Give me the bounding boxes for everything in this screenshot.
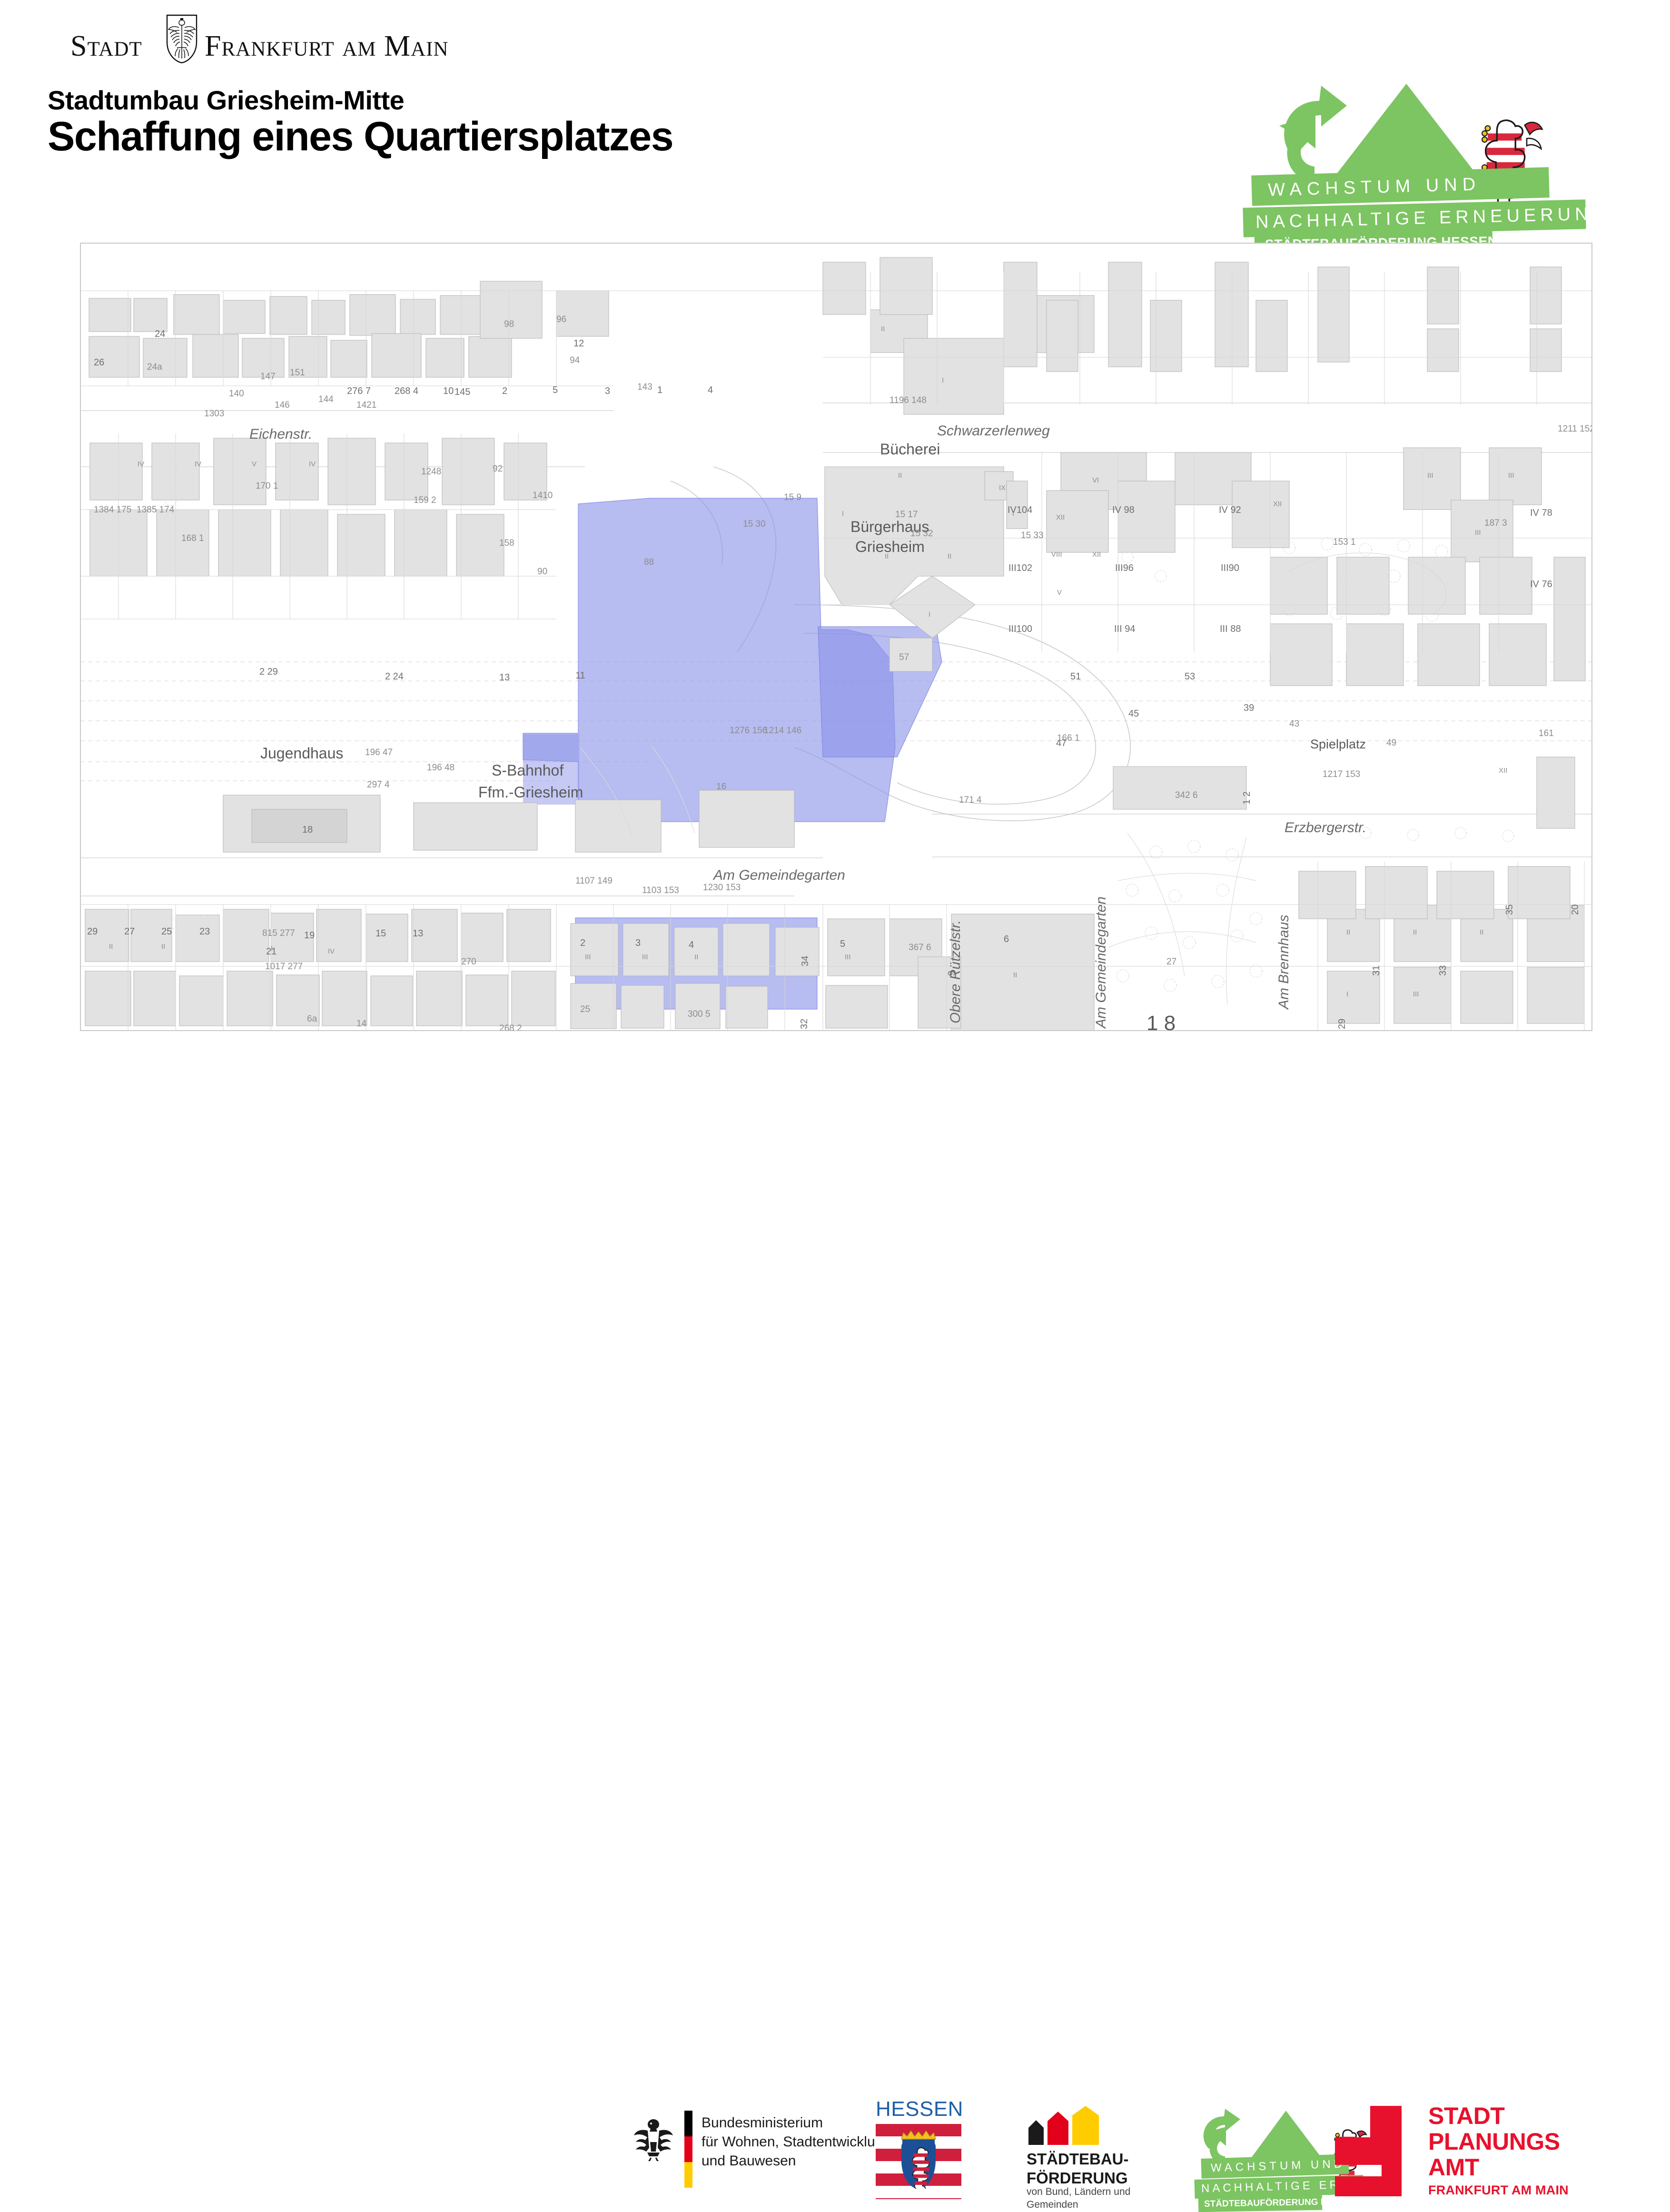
street-label-eichenstr: Eichenstr. <box>249 426 312 442</box>
parcel-number: 27 <box>1166 957 1176 967</box>
parcel-number: 342 6 <box>1175 790 1198 801</box>
house-number: 5 <box>840 939 845 950</box>
floor-count: II <box>1013 971 1017 979</box>
parcel-number: 1384 175 <box>94 505 131 515</box>
house-number: 2 <box>580 938 585 949</box>
house-number: III100 <box>1008 624 1032 635</box>
floor-count: II <box>1346 928 1350 936</box>
floor-count: I <box>1012 510 1014 518</box>
bundesministerium-text: Bundesministerium für Wohnen, Stadtentwi… <box>702 2114 891 2171</box>
parcel-number: 1410 <box>533 491 553 501</box>
house-number: 2 <box>502 386 507 397</box>
house-number: 268 4 <box>395 386 418 397</box>
street-label-am-brennhaus: Am Brennhaus <box>1276 915 1292 1009</box>
floor-count: IV <box>328 947 335 955</box>
house-number: III96 <box>1115 563 1134 574</box>
staedtebau-title-line-2: FÖRDERUNG <box>1027 2169 1128 2188</box>
stadtplanungsamt-logo: STADT PLANUNGS AMT FRANKFURT AM MAIN <box>1335 2103 1573 2198</box>
poi-label-griesheim: Griesheim <box>855 538 925 556</box>
house-number: III 94 <box>1114 624 1135 635</box>
parcel-number: 1107 149 <box>575 876 613 886</box>
parcel-number: 367 6 <box>909 943 931 953</box>
bm-line-1: Bundesministerium <box>702 2114 891 2133</box>
house-number: III90 <box>1221 563 1239 574</box>
parcel-number: 15 33 <box>1021 531 1044 541</box>
parcel-number: 24a <box>147 362 162 373</box>
parcel-number: 92 <box>493 464 503 474</box>
parcel-number: 1276 156 <box>730 726 767 736</box>
house-number: 26 <box>94 357 104 368</box>
floor-count: I <box>271 944 273 953</box>
street-label-erzbergerstr: Erzbergerstr. <box>1285 820 1366 836</box>
parcel-number: 1217 153 <box>1323 769 1360 780</box>
house-number: 12 <box>573 338 584 349</box>
house-number: 35 <box>1504 904 1515 915</box>
house-number: 29 <box>87 926 98 937</box>
house-number: 23 <box>199 926 210 937</box>
parcel-number: 159 2 <box>414 495 436 506</box>
parcel-number: 147 <box>260 372 276 382</box>
floor-count: I <box>1346 990 1348 998</box>
city-logo-word-stadt: Stadt <box>70 29 142 63</box>
floor-count: VIII <box>1051 551 1062 559</box>
parcel-number: 14 <box>356 1019 366 1029</box>
house-number: IV 78 <box>1530 508 1552 519</box>
house-number: 31 <box>1371 965 1382 976</box>
parcel-number: 297 4 <box>367 780 390 790</box>
page-subtitle: Stadtumbau Griesheim-Mitte <box>48 85 404 116</box>
house-number: 4 <box>689 940 694 951</box>
house-number: 2 29 <box>259 667 278 678</box>
stadtplanungsamt-wordmark: STADT PLANUNGS AMT <box>1428 2103 1560 2180</box>
street-label-schwarzerlenweg: Schwarzerlenweg <box>937 423 1050 439</box>
poi-label-buecherei: Bücherei <box>880 441 940 458</box>
floor-count: III <box>1475 529 1481 537</box>
house-number: 3 <box>605 386 610 397</box>
house-number: III102 <box>1008 563 1032 574</box>
house-number: 11 <box>575 670 585 681</box>
house-number: 45 <box>1128 708 1139 719</box>
parcel-number: 90 <box>537 567 547 577</box>
page-title: Schaffung eines Quartiersplatzes <box>48 113 673 160</box>
staedtebau-sub-line-2: Gemeinden <box>1027 2199 1130 2212</box>
house-number: IV 98 <box>1112 505 1135 516</box>
floor-count: I <box>929 610 930 619</box>
floor-count: II <box>694 953 698 961</box>
bundesadler-icon <box>633 2116 674 2162</box>
bm-line-3: und Bauwesen <box>702 2152 891 2171</box>
house-number: 24 <box>155 329 165 340</box>
house-number: 4 <box>708 385 713 396</box>
staedtebau-subtitle: von Bund, Ländern und Gemeinden <box>1027 2186 1130 2212</box>
parcel-number: 151 <box>290 368 305 378</box>
house-number: 39 <box>1244 703 1254 714</box>
parcel-number: 143 <box>637 382 652 393</box>
house-number: 27 <box>124 926 135 937</box>
poi-label-ffm-griesheim: Ffm.-Griesheim <box>478 784 583 801</box>
parcel-number: 196 48 <box>427 763 455 773</box>
house-number: 29 <box>1337 1019 1348 1029</box>
floor-count: II <box>161 943 165 951</box>
staedtebaufoerderung-logo: STÄDTEBAU- FÖRDERUNG von Bund, Ländern u… <box>1026 2106 1178 2201</box>
floor-count: V <box>1057 589 1062 597</box>
house-number: 13 <box>499 672 510 683</box>
house-number: 10 <box>443 386 454 397</box>
house-number: 1 <box>657 385 662 396</box>
floor-count: IV <box>195 460 201 468</box>
floor-count: XII <box>1056 513 1065 521</box>
cadastral-map[interactable]: Eichenstr. Schwarzerlenweg Erzbergerstr.… <box>80 243 1592 1031</box>
spa-line-3: AMT <box>1428 2154 1560 2180</box>
street-label-am-gemeindegarten: Am Gemeindegarten <box>713 867 845 884</box>
house-number: 1 2 <box>1242 791 1253 805</box>
parcel-number: 1017 277 <box>265 962 303 972</box>
floor-count: XII <box>1499 767 1507 775</box>
parcel-number: 158 <box>499 538 514 549</box>
parcel-number: 15 9 <box>784 492 801 503</box>
parcel-number: 1421 <box>356 400 376 411</box>
bundesministerium-logo: Bundesministerium für Wohnen, Stadtentwi… <box>633 2104 857 2194</box>
parcel-number: 57 <box>899 652 909 663</box>
parcel-number: 171 4 <box>959 795 982 806</box>
floor-count: IX <box>999 484 1006 492</box>
parcel-number: 1385 174 <box>137 505 174 515</box>
house-number: 276 7 <box>347 386 371 397</box>
floor-count: II <box>948 552 951 560</box>
parcel-number: 166 1 <box>1057 733 1080 744</box>
street-label-am-gemeindegarten-2: Am Gemeindegarten <box>1093 896 1109 1028</box>
staedtebau-title-line-1: STÄDTEBAU- <box>1027 2150 1128 2169</box>
house-number: 51 <box>1070 671 1081 682</box>
parcel-number: 1303 <box>204 409 224 419</box>
hessen-state-logo: HESSEN <box>875 2097 965 2202</box>
crown-icon <box>900 2130 937 2140</box>
spa-line-1: STADT <box>1428 2103 1560 2129</box>
city-logo-word-frankfurt: Frankfurt am Main <box>205 29 449 63</box>
floor-count: III <box>1413 990 1419 998</box>
map-vector-layer <box>80 243 1592 1031</box>
house-number: 25 <box>161 926 172 937</box>
wachstum-footer-line-3: STÄDTEBAUFÖRDERUNG HESSEN <box>1198 2195 1323 2212</box>
staedtebau-title: STÄDTEBAU- FÖRDERUNG <box>1027 2150 1128 2187</box>
staedtebau-sub-line-1: von Bund, Ländern und <box>1027 2186 1130 2199</box>
parcel-number: 1196 148 <box>889 395 927 406</box>
house-number: 32 <box>799 1019 810 1029</box>
parcel-number: 49 <box>1386 738 1396 748</box>
spa-line-2: PLANUNGS <box>1428 2129 1560 2154</box>
floor-count: II <box>898 472 902 480</box>
parcel-number: 15 30 <box>743 519 766 530</box>
house-number: 1 8 <box>1146 1012 1176 1031</box>
floor-count: IV <box>309 460 316 468</box>
floor-count: II <box>1413 928 1417 936</box>
house-number: 33 <box>1438 965 1449 976</box>
floor-count: XII <box>1273 500 1282 508</box>
house-number: IV104 <box>1008 505 1032 516</box>
poi-label-spielplatz: Spielplatz <box>1310 737 1366 752</box>
poi-label-jugendhaus: Jugendhaus <box>260 745 343 762</box>
house-number: 53 <box>1185 671 1195 682</box>
floor-count: II <box>109 943 113 951</box>
parcel-number: 196 47 <box>365 747 393 758</box>
poi-label-s-bahnhof: S-Bahnhof <box>492 762 563 779</box>
three-houses-icon <box>1027 2106 1103 2145</box>
parcel-number: 1103 153 <box>642 885 679 896</box>
parcel-number: 16 <box>716 782 726 792</box>
parcel-number: 88 <box>644 557 654 568</box>
parcel-number: 15 32 <box>910 529 933 539</box>
house-number: 3 <box>635 938 641 949</box>
floor-count: III <box>845 953 851 961</box>
parcel-number: 1248 <box>421 467 441 477</box>
parcel-number: 161 <box>1539 728 1554 739</box>
wachstum-erneuerung-logo: WACHSTUM UND NACHHALTIGE ERNEUERUNG STÄD… <box>1252 81 1585 224</box>
parcel-number: 96 <box>556 315 566 325</box>
parcel-number: 1214 146 <box>764 726 801 736</box>
floor-count: II <box>885 552 889 560</box>
parcel-number: 268 2 <box>499 1023 522 1031</box>
house-number: 15 <box>376 928 386 939</box>
floor-count: III <box>585 953 591 961</box>
parcel-number: 1230 153 <box>703 883 741 893</box>
parcel-number: 168 1 <box>181 533 204 544</box>
hessen-shield-lion-icon <box>901 2136 936 2189</box>
bm-line-2: für Wohnen, Stadtentwicklung <box>702 2133 891 2152</box>
floor-count: IV <box>138 460 144 468</box>
house-number: 2 24 <box>385 671 404 682</box>
floor-count: VI <box>1092 476 1099 484</box>
parcel-number: 25 <box>580 1004 590 1015</box>
house-number: 5 <box>553 385 558 396</box>
parcel-number: 6a <box>307 1014 317 1024</box>
house-number: 19 <box>304 930 315 941</box>
parcel-number: 187 3 <box>1484 518 1507 529</box>
parcel-number: 98 <box>504 319 514 330</box>
german-flag-bar-icon <box>684 2111 692 2188</box>
house-number: III 88 <box>1220 624 1241 635</box>
floor-count: III <box>642 953 648 961</box>
house-number: 20 <box>1570 904 1581 915</box>
city-logo: Stadt Frankfurt am Main <box>70 25 375 63</box>
hessen-wordmark: HESSEN <box>876 2097 963 2121</box>
parcel-number: 15 17 <box>895 510 918 520</box>
parcel-number: 153 1 <box>1333 537 1356 548</box>
house-number: 18 <box>302 825 313 836</box>
parcel-number: 270 <box>461 957 476 967</box>
parcel-number: 140 <box>229 389 244 399</box>
house-number: 34 <box>800 956 811 966</box>
parcel-number: 146 <box>275 400 290 411</box>
page-header: Stadt Frankfurt am Main <box>0 0 1670 224</box>
house-number: 145 <box>455 387 470 398</box>
floor-count: III <box>1508 472 1514 480</box>
stadtplanungsamt-mark-icon <box>1335 2106 1402 2199</box>
house-number: IV 92 <box>1219 505 1241 516</box>
parcel-number: 94 <box>570 355 580 366</box>
parcel-number: 144 <box>318 394 334 405</box>
page-footer: Bundesministerium für Wohnen, Stadtentwi… <box>0 1042 1670 1180</box>
parcel-number: 170 1 <box>256 481 278 492</box>
house-number: 6 <box>1004 934 1009 945</box>
house-number: 9 <box>947 971 958 976</box>
floor-count: III <box>1427 472 1433 480</box>
floor-count: II <box>881 325 885 333</box>
frankfurt-eagle-crest-icon <box>166 14 198 64</box>
parcel-number: 300 5 <box>688 1009 711 1020</box>
floor-count: I <box>842 510 844 518</box>
floor-count: II <box>1480 928 1483 936</box>
floor-count: V <box>252 460 257 468</box>
parcel-number: 43 <box>1289 719 1299 729</box>
floor-count: I <box>942 376 944 384</box>
floor-count: XII <box>1092 551 1101 559</box>
house-number: IV 76 <box>1530 579 1552 590</box>
parcel-number: 815 277 <box>262 928 295 939</box>
parcel-number: 1211 152 <box>1558 424 1592 434</box>
house-number: 13 <box>413 928 423 939</box>
spa-line-4: FRANKFURT AM MAIN <box>1428 2183 1569 2198</box>
